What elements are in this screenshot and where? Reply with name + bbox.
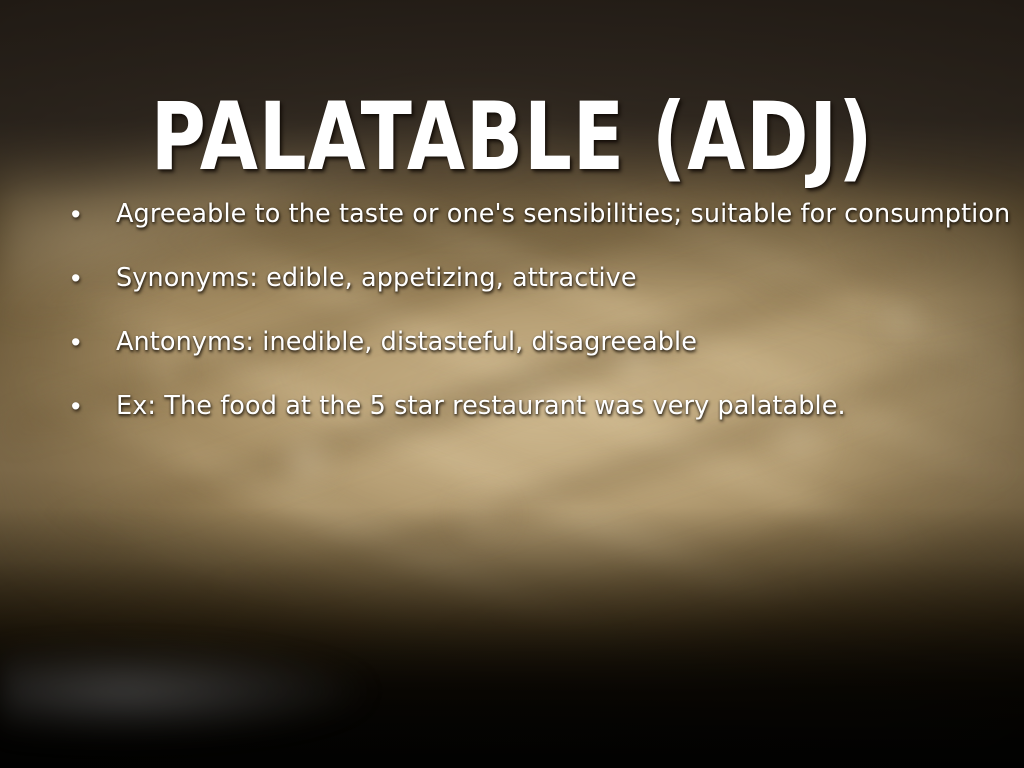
slide-canvas: PALATABLE (ADJ) • Agreeable to the taste… — [0, 0, 1024, 768]
bullet-text-antonyms: Antonyms: inedible, distasteful, disagre… — [116, 324, 697, 360]
bullet-point-icon: • — [64, 196, 116, 232]
bullet-text-synonyms: Synonyms: edible, appetizing, attractive — [116, 260, 637, 296]
bullet-text-definition: Agreeable to the taste or one's sensibil… — [116, 196, 1010, 232]
bullet-item-synonyms: • Synonyms: edible, appetizing, attracti… — [64, 260, 1008, 324]
bullet-point-icon: • — [64, 260, 116, 296]
bullet-item-definition: • Agreeable to the taste or one's sensib… — [64, 196, 1008, 260]
bullet-point-icon: • — [64, 324, 116, 360]
bullet-point-icon: • — [64, 388, 116, 424]
slide-content: PALATABLE (ADJ) • Agreeable to the taste… — [0, 0, 1024, 768]
bullet-list: • Agreeable to the taste or one's sensib… — [64, 196, 1008, 452]
bullet-item-example: • Ex: The food at the 5 star restaurant … — [64, 388, 1008, 452]
bullet-item-antonyms: • Antonyms: inedible, distasteful, disag… — [64, 324, 1008, 388]
bullet-text-example: Ex: The food at the 5 star restaurant wa… — [116, 388, 846, 424]
slide-title: PALATABLE (ADJ) — [102, 91, 921, 185]
